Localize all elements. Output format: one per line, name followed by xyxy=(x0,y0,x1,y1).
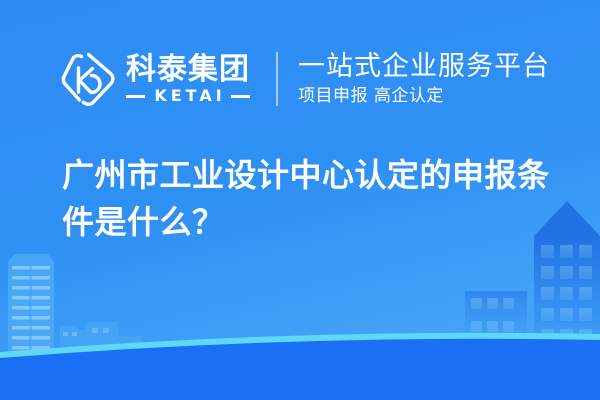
logo-wordmark: 科泰集团 KETAI xyxy=(126,54,250,105)
tagline-block: 一站式企业服务平台 项目申报 高企认定 xyxy=(298,51,550,108)
logo-company-en-row: KETAI xyxy=(126,88,250,104)
logo-company-cn: 科泰集团 xyxy=(126,54,250,86)
left-city-skyline xyxy=(8,254,142,358)
brand-header: 科泰集团 KETAI 一站式企业服务平台 项目申报 高企认定 xyxy=(0,36,600,122)
bottom-curved-arc xyxy=(0,333,600,400)
logo-block[interactable]: 科泰集团 KETAI xyxy=(58,49,250,109)
header-divider xyxy=(276,52,278,106)
tagline-main: 一站式企业服务平台 xyxy=(298,51,550,83)
page-title: 广州市工业设计中心认定的申报条件是什么？ xyxy=(62,152,574,247)
tagline-sub: 项目申报 高企认定 xyxy=(298,85,550,107)
logo-dash-right xyxy=(231,95,250,98)
short-building xyxy=(465,291,527,358)
logo-dash-left xyxy=(126,95,145,98)
ketai-kd-monogram-icon xyxy=(58,49,118,109)
promo-banner: 科泰集团 KETAI 一站式企业服务平台 项目申报 高企认定 广州市工业设计中心… xyxy=(0,0,600,400)
logo-company-en: KETAI xyxy=(145,88,230,104)
